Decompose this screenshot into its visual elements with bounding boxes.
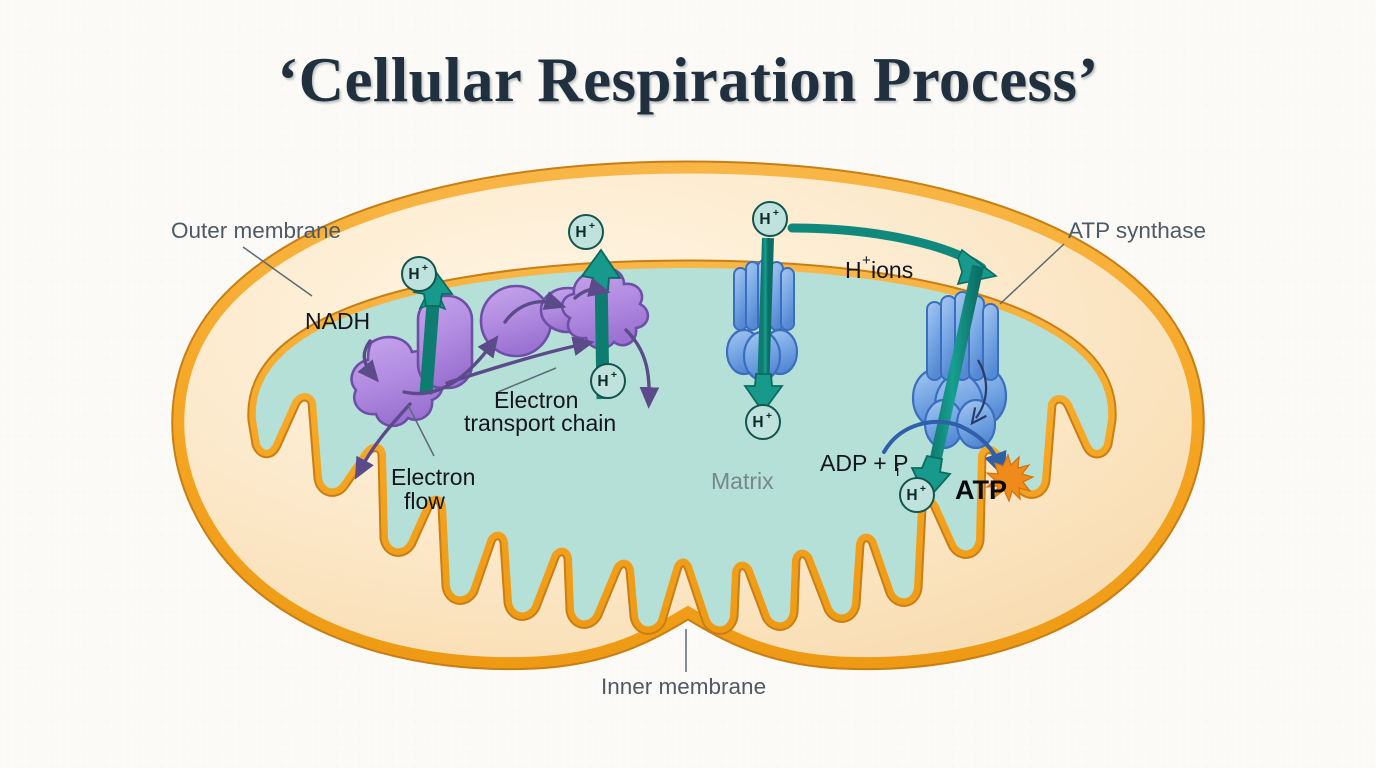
mitochondrion-diagram: H + H + H + H + H + (0, 0, 1376, 768)
proton-bubble: H + (753, 202, 787, 236)
label-etc-line2: transport chain (464, 410, 616, 436)
label-adp: ADP + P i (820, 450, 908, 480)
proton-bubble-label: H (752, 414, 763, 431)
proton-bubble: H + (900, 478, 934, 512)
label-atp-synthase: ATP synthase (1068, 218, 1206, 243)
diagram-canvas: ‘Cellular Respiration Process’ (0, 0, 1376, 768)
proton-bubble: H + (746, 405, 780, 439)
label-nadh: NADH (305, 308, 370, 334)
proton-bubble-sup: + (589, 220, 595, 232)
label-inner-membrane: Inner membrane (601, 674, 766, 699)
label-h-ions-sup: + (862, 252, 871, 269)
proton-bubble: H + (569, 215, 603, 249)
label-outer-membrane: Outer membrane (171, 218, 341, 243)
proton-bubble-sup: + (773, 207, 779, 219)
proton-bubble-label: H (759, 211, 770, 228)
proton-bubble-label: H (408, 266, 419, 283)
label-electron-flow-line1: Electron (391, 464, 475, 490)
proton-bubble: H + (402, 257, 436, 291)
proton-bubble-sup: + (422, 262, 428, 274)
label-h-ions-rest: ions (871, 257, 913, 283)
proton-bubble-label: H (575, 224, 586, 241)
proton-bubble-sup: + (611, 369, 617, 381)
proton-bubble-sup: + (920, 483, 926, 495)
label-electron-flow-line2: flow (404, 488, 445, 514)
label-h-ions: H + ions (845, 252, 913, 283)
proton-bubble-label: H (597, 373, 608, 390)
label-h-ions-h: H (845, 257, 862, 283)
proton-bubble-label: H (906, 487, 917, 504)
proton-bubble-sup: + (766, 410, 772, 422)
label-adp-sub: i (896, 463, 899, 480)
label-matrix: Matrix (711, 468, 774, 494)
label-atp: ATP (955, 475, 1007, 505)
proton-bubble: H + (591, 364, 625, 398)
